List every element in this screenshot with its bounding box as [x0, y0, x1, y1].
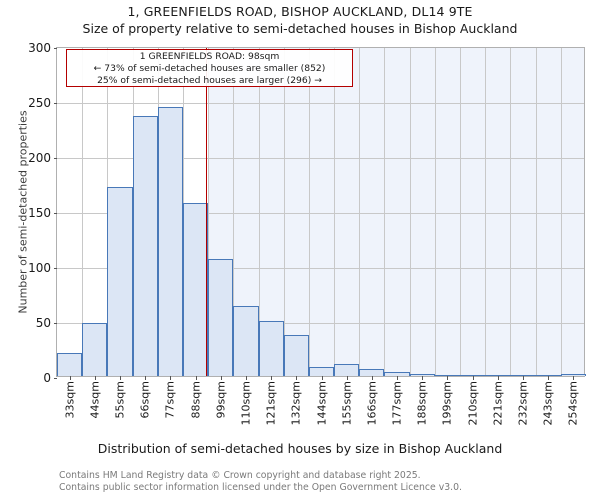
x-tick-label-144sqm: 144sqm: [315, 381, 328, 425]
y-tick-label-300: 300: [28, 41, 51, 55]
bar-99sqm: [208, 259, 233, 376]
x-tick-label-166sqm: 166sqm: [365, 381, 378, 425]
plot-area: 050100150200250300 33sqm44sqm55sqm66sqm7…: [56, 47, 585, 377]
y-tick-label-250: 250: [28, 96, 51, 110]
bar-121sqm: [259, 321, 284, 376]
x-tick-label-44sqm: 44sqm: [88, 381, 101, 418]
x-tick-mark-110sqm: [246, 376, 247, 380]
x-tick-label-33sqm: 33sqm: [63, 381, 76, 418]
x-tick-label-254sqm: 254sqm: [567, 381, 580, 425]
x-tick-mark-121sqm: [271, 376, 272, 380]
x-tick-label-232sqm: 232sqm: [517, 381, 530, 425]
x-axis-title: Distribution of semi-detached houses by …: [0, 441, 600, 456]
x-tick-mark-210sqm: [473, 376, 474, 380]
x-tick-label-121sqm: 121sqm: [265, 381, 278, 425]
x-tick-label-177sqm: 177sqm: [391, 381, 404, 425]
x-tick-label-199sqm: 199sqm: [441, 381, 454, 425]
y-tick-mark-0: [54, 378, 58, 379]
x-tick-mark-199sqm: [447, 376, 448, 380]
x-tick-mark-232sqm: [523, 376, 524, 380]
x-tick-mark-188sqm: [422, 376, 423, 380]
x-tick-label-66sqm: 66sqm: [139, 381, 152, 418]
x-tick-label-88sqm: 88sqm: [189, 381, 202, 418]
y-tick-mark-250: [54, 103, 58, 104]
bar-44sqm: [82, 323, 107, 376]
x-tick-mark-44sqm: [95, 376, 96, 380]
bar-66sqm: [133, 116, 158, 376]
y-tick-label-50: 50: [36, 316, 51, 330]
x-tick-mark-88sqm: [196, 376, 197, 380]
y-tick-mark-300: [54, 48, 58, 49]
bar-55sqm: [107, 187, 132, 376]
footer-line-2: Contains public sector information licen…: [59, 482, 462, 494]
annotation-box: 1 GREENFIELDS ROAD: 98sqm ← 73% of semi-…: [66, 49, 353, 87]
x-tick-label-210sqm: 210sqm: [466, 381, 479, 425]
x-tick-mark-55sqm: [120, 376, 121, 380]
y-tick-mark-150: [54, 213, 58, 214]
footer-line-1: Contains HM Land Registry data © Crown c…: [59, 470, 462, 482]
bar-166sqm: [359, 369, 384, 376]
y-tick-mark-100: [54, 268, 58, 269]
y-tick-label-200: 200: [28, 151, 51, 165]
bar-88sqm: [183, 203, 208, 376]
y-tick-mark-50: [54, 323, 58, 324]
bar-144sqm: [309, 367, 334, 376]
x-tick-mark-33sqm: [70, 376, 71, 380]
chart-page: 1, GREENFIELDS ROAD, BISHOP AUCKLAND, DL…: [0, 0, 600, 500]
page-subtitle: Size of property relative to semi-detach…: [0, 21, 600, 36]
y-axis-title: Number of semi-detached properties: [17, 110, 30, 313]
x-tick-label-188sqm: 188sqm: [416, 381, 429, 425]
x-tick-mark-99sqm: [221, 376, 222, 380]
x-tick-mark-221sqm: [498, 376, 499, 380]
bar-132sqm: [284, 335, 309, 376]
x-tick-mark-66sqm: [145, 376, 146, 380]
x-tick-mark-132sqm: [296, 376, 297, 380]
x-tick-label-132sqm: 132sqm: [290, 381, 303, 425]
y-tick-label-100: 100: [28, 261, 51, 275]
attribution-footer: Contains HM Land Registry data © Crown c…: [59, 470, 462, 493]
x-tick-mark-254sqm: [573, 376, 574, 380]
y-tick-label-150: 150: [28, 206, 51, 220]
x-tick-label-55sqm: 55sqm: [113, 381, 126, 418]
x-tick-mark-144sqm: [322, 376, 323, 380]
annotation-line-1: 1 GREENFIELDS ROAD: 98sqm: [67, 51, 352, 63]
y-tick-label-0: 0: [43, 371, 51, 385]
annotation-line-2: ← 73% of semi-detached houses are smalle…: [67, 63, 352, 75]
x-tick-mark-243sqm: [548, 376, 549, 380]
property-size-marker-line: [206, 48, 207, 376]
y-tick-mark-200: [54, 158, 58, 159]
bar-77sqm: [158, 107, 183, 377]
bar-110sqm: [233, 306, 258, 376]
bar-33sqm: [57, 353, 82, 376]
x-tick-label-243sqm: 243sqm: [542, 381, 555, 425]
bar-155sqm: [334, 364, 359, 376]
x-tick-mark-166sqm: [372, 376, 373, 380]
histogram-bars: [57, 48, 584, 376]
x-tick-label-221sqm: 221sqm: [491, 381, 504, 425]
x-tick-mark-177sqm: [397, 376, 398, 380]
x-tick-label-77sqm: 77sqm: [164, 381, 177, 418]
x-tick-mark-77sqm: [170, 376, 171, 380]
x-tick-mark-155sqm: [347, 376, 348, 380]
x-tick-label-155sqm: 155sqm: [340, 381, 353, 425]
page-title: 1, GREENFIELDS ROAD, BISHOP AUCKLAND, DL…: [0, 4, 600, 19]
x-tick-label-99sqm: 99sqm: [214, 381, 227, 418]
x-tick-label-110sqm: 110sqm: [239, 381, 252, 425]
annotation-line-3: 25% of semi-detached houses are larger (…: [67, 75, 352, 87]
